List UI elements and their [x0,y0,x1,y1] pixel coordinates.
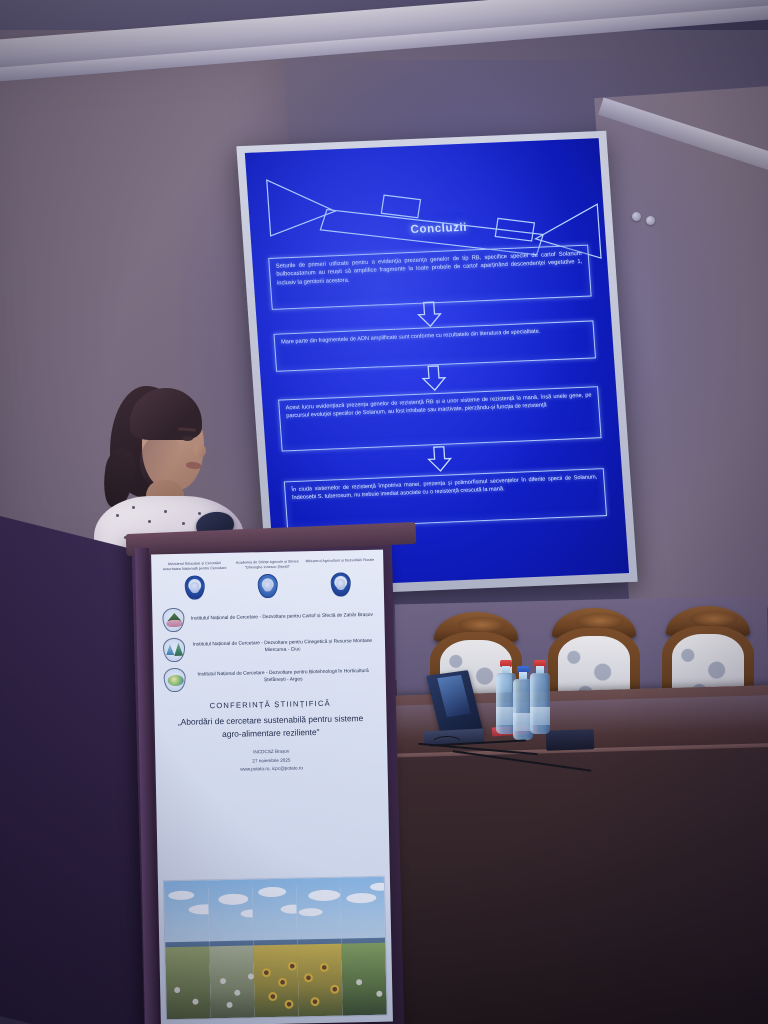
podium-banner: Ministerul Educației și Cercetării Autor… [151,550,393,1024]
down-arrow-icon [416,301,444,328]
mount-screw [646,216,655,225]
institute-list: Institutul Național de Cercetare - Dezvo… [159,604,379,693]
conclusion-box-4: În ciuda sistemelor de rezistență împotr… [284,468,607,529]
institute-name: Institutul Național de Cercetare - Dezvo… [189,612,374,623]
ministry-item: Academia de Științe Agricole și Silvice … [233,559,302,598]
wildlife-institute-logo-icon [163,638,185,662]
chair-carving [690,611,738,627]
conference-title: „Abordări de cercetare sustenabilă pentr… [161,712,379,742]
horticulture-institute-logo-icon [163,668,185,692]
photo-panel [340,877,387,1016]
institute-name: Institutul Național de Cercetare - Dezvo… [190,639,375,657]
presentation-slide: Concluzii Seturile de primeri utilizate … [245,138,629,588]
academy-seal-icon [258,574,278,598]
photo-panel [208,879,255,1018]
water-bottle [530,660,550,734]
photo-panel [296,878,343,1017]
ministry-label: Ministerul Educației și Cercetării Autor… [160,561,229,573]
ministry-label: Ministerul Agriculturii și Dezvoltării R… [306,558,375,570]
ministry-label: Academia de Științe Agricole și Silvice … [233,559,302,571]
head-table-front [386,746,768,1024]
institute-name: Institutul Național de Cercetare - Dezvo… [191,669,376,687]
cable-loop [430,736,464,754]
down-arrow-icon [420,365,448,392]
down-arrow-icon [426,445,454,472]
mount-screw [632,212,641,221]
ministry-seal-icon [185,575,205,599]
chair-carving [458,617,506,633]
institute-row: Institutul Național de Cercetare - Dezvo… [162,604,374,632]
field [209,946,254,1019]
ministry-item: Ministerul Agriculturii și Dezvoltării R… [306,558,375,597]
conference-label: CONFERINȚĂ ȘTIINȚIFICĂ [161,698,379,712]
nose [194,444,206,457]
field [341,943,386,1016]
conclusion-box-3: Acest lucru evidențiază prezența genelor… [278,386,601,451]
conclusion-box-2: Mare parte din fragmentele de ADN amplif… [273,320,595,371]
field [165,947,210,1020]
ministry-seal-icon [330,572,350,596]
institute-row: Institutul Național de Cercetare - Dezvo… [163,664,375,692]
ministry-logo-row: Ministerul Educației și Cercetării Autor… [158,556,377,601]
eye [182,436,193,441]
projector-remote-device [546,729,595,751]
potato-institute-logo-icon [162,608,184,632]
bottle-label [530,707,550,725]
photo-panel [164,880,211,1019]
photo-panel [252,879,299,1018]
bottle-body [530,673,550,734]
institute-row: Institutul Național de Cercetare - Dezvo… [163,634,375,662]
conference-photo-scene: Concluzii Seturile de primeri utilizate … [0,0,768,1024]
banner-photo-collage [163,876,388,1021]
slide-title: Concluzii [410,222,467,236]
ministry-item: Ministerul Educației și Cercetării Autor… [160,561,229,600]
chair-carving [576,613,624,629]
